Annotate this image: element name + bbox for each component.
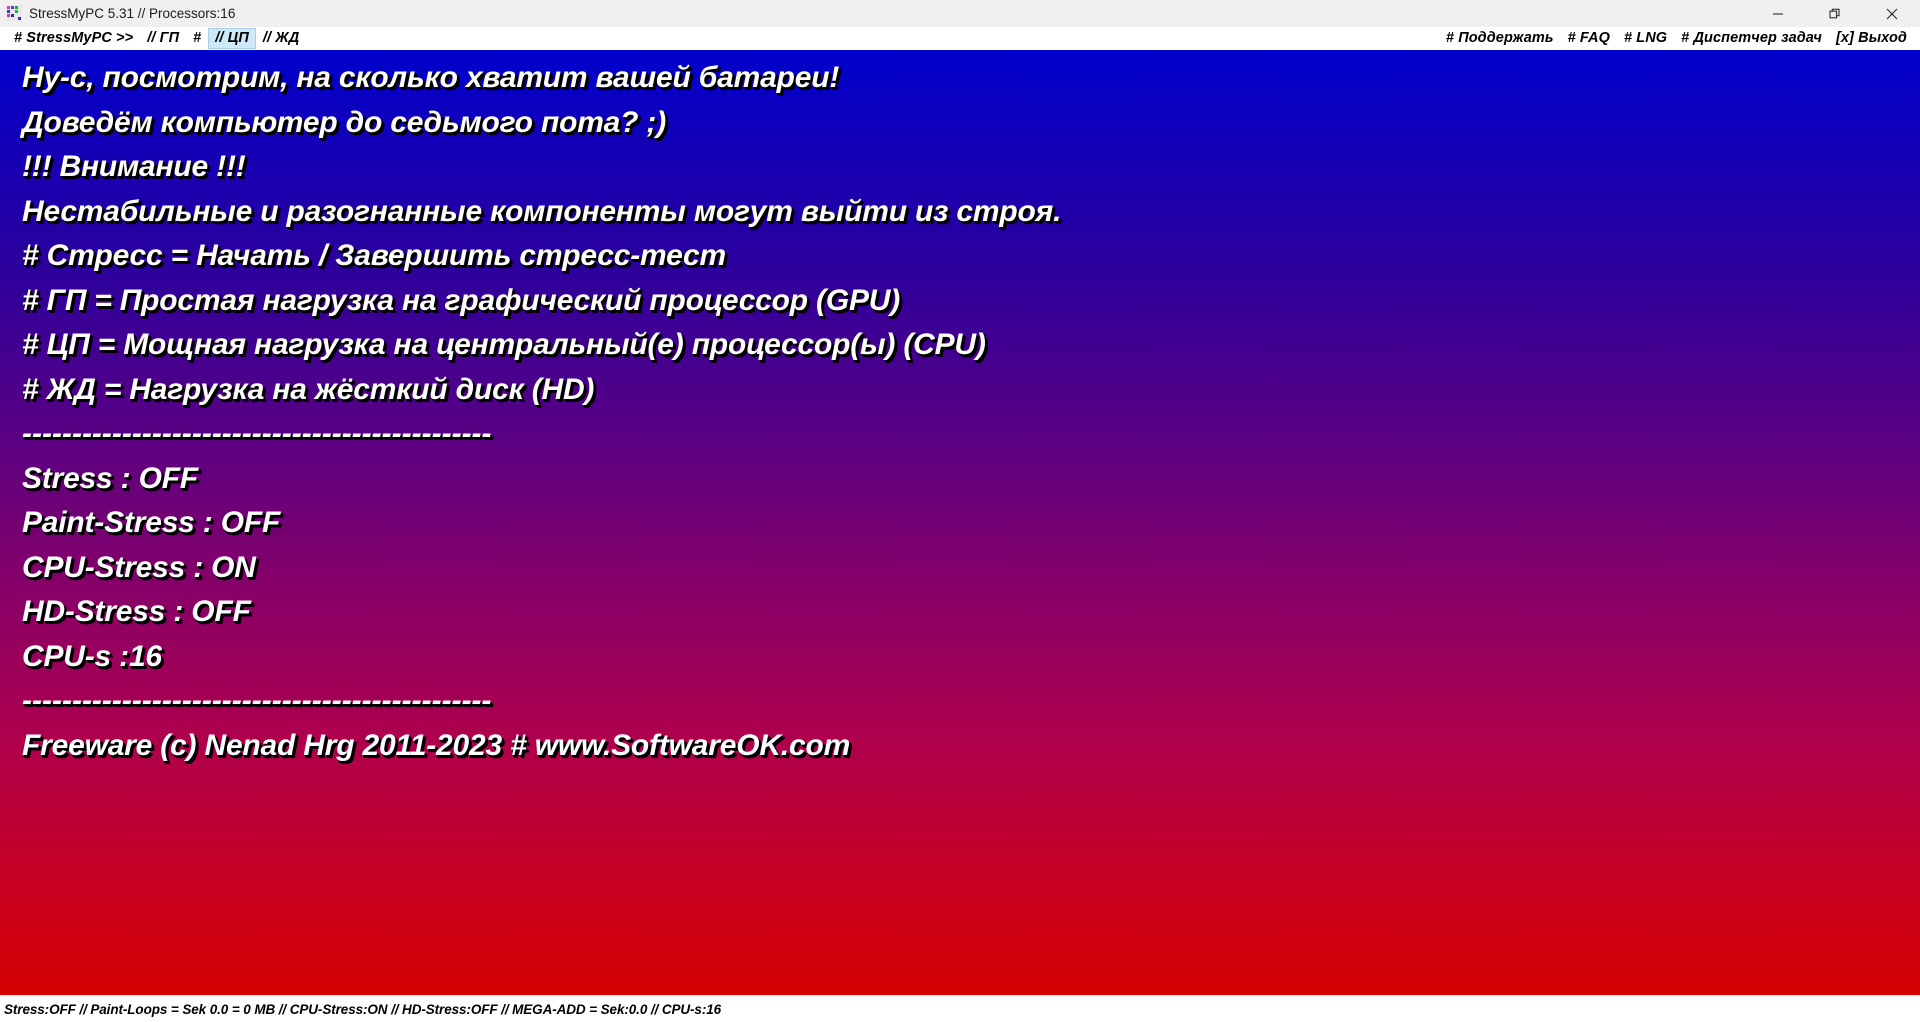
window-titlebar: StressMyPC 5.31 // Processors:16 bbox=[0, 0, 1920, 27]
info-line-warning-body: Нестабильные и разогнанные компоненты мо… bbox=[22, 190, 1920, 235]
close-icon bbox=[1886, 8, 1898, 20]
menu-stressmypc[interactable]: # StressMyPC >> bbox=[7, 28, 140, 49]
menu-lng[interactable]: # LNG bbox=[1617, 28, 1674, 49]
info-line: Ну-с, посмотрим, на сколько хватит вашей… bbox=[22, 56, 1920, 101]
menu-gpu[interactable]: // ГП bbox=[140, 28, 186, 49]
restore-icon bbox=[1829, 8, 1841, 20]
info-line-legend-cpu: # ЦП = Мощная нагрузка на центральный(е)… bbox=[22, 323, 1920, 368]
minimize-button[interactable] bbox=[1749, 0, 1806, 27]
status-paint-stress: Paint-Stress : OFF bbox=[22, 501, 1920, 546]
info-line-credits: Freeware (c) Nenad Hrg 2011-2023 # www.S… bbox=[22, 724, 1920, 769]
menu-task-manager[interactable]: # Диспетчер задач bbox=[1674, 28, 1829, 49]
info-separator-bottom: ----------------------------------------… bbox=[22, 679, 1920, 724]
status-cpu-stress: CPU-Stress : ON bbox=[22, 546, 1920, 591]
status-cpu-count: CPU-s :16 bbox=[22, 635, 1920, 680]
info-line-legend-gpu: # ГП = Простая нагрузка на графический п… bbox=[22, 279, 1920, 324]
status-bar: Stress:OFF // Paint-Loops = Sek 0.0 = 0 … bbox=[0, 995, 1920, 1022]
info-line: Доведём компьютер до седьмого пота? ;) bbox=[22, 101, 1920, 146]
minimize-icon bbox=[1772, 8, 1784, 20]
status-bar-text: Stress:OFF // Paint-Loops = Sek 0.0 = 0 … bbox=[4, 1002, 721, 1017]
status-hd-stress: HD-Stress : OFF bbox=[22, 590, 1920, 635]
info-line-legend-hd: # ЖД = Нагрузка на жёсткий диск (HD) bbox=[22, 368, 1920, 413]
stress-info-panel: Ну-с, посмотрим, на сколько хватит вашей… bbox=[0, 50, 1920, 995]
info-separator-top: ----------------------------------------… bbox=[22, 412, 1920, 457]
menu-support[interactable]: # Поддержать bbox=[1439, 28, 1561, 49]
window-controls bbox=[1749, 0, 1920, 27]
menu-hd[interactable]: // ЖД bbox=[256, 28, 307, 49]
app-pixel-icon bbox=[6, 5, 22, 21]
menu-bar-left: # StressMyPC >> // ГП # // ЦП // ЖД bbox=[0, 28, 306, 49]
menu-hash[interactable]: # bbox=[186, 28, 208, 49]
info-line-warning-title: !!! Внимание !!! bbox=[22, 145, 1920, 190]
close-button[interactable] bbox=[1863, 0, 1920, 27]
menu-exit[interactable]: [x] Выход bbox=[1829, 28, 1914, 49]
info-line-legend-stress: # Стресс = Начать / Завершить стресс-тес… bbox=[22, 234, 1920, 279]
menu-faq[interactable]: # FAQ bbox=[1561, 28, 1617, 49]
menu-bar-right: # Поддержать # FAQ # LNG # Диспетчер зад… bbox=[1439, 27, 1914, 50]
restore-button[interactable] bbox=[1806, 0, 1863, 27]
info-text-block: Ну-с, посмотрим, на сколько хватит вашей… bbox=[22, 56, 1920, 768]
window-title: StressMyPC 5.31 // Processors:16 bbox=[29, 6, 235, 21]
status-stress: Stress : OFF bbox=[22, 457, 1920, 502]
menu-cpu[interactable]: // ЦП bbox=[208, 28, 256, 49]
menu-bar: # StressMyPC >> // ГП # // ЦП // ЖД # По… bbox=[0, 27, 1920, 50]
